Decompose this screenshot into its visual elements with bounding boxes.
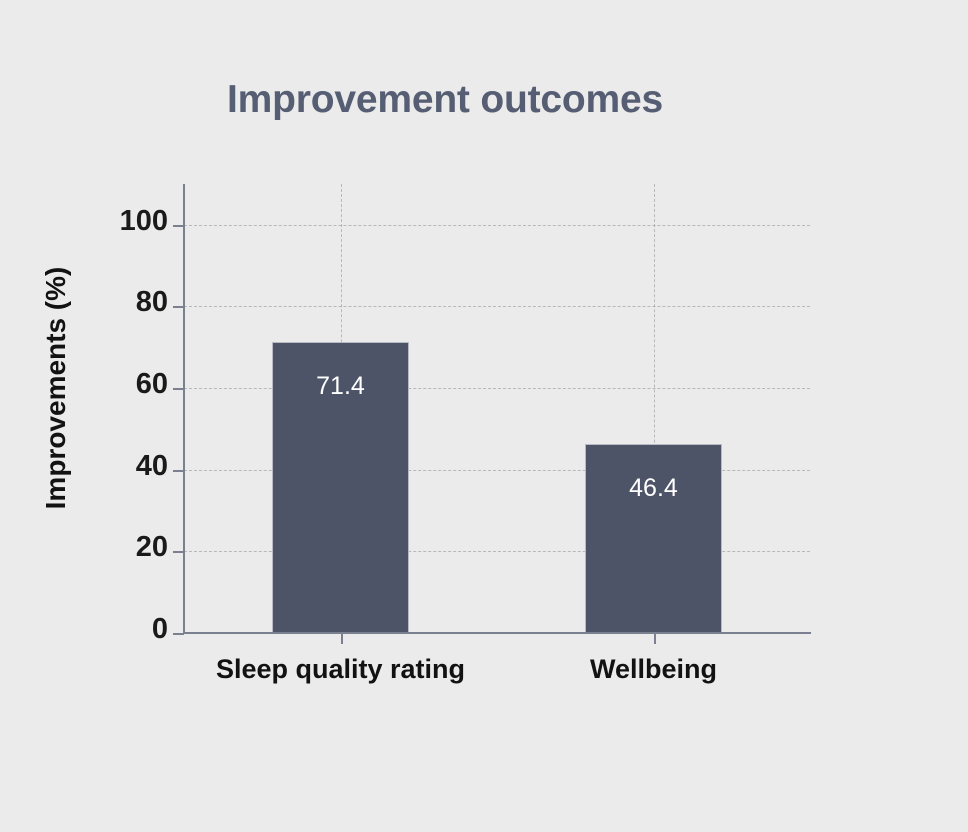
y-tick-mark (173, 470, 184, 472)
y-tick-mark (173, 551, 184, 553)
x-axis-spine (184, 632, 811, 634)
y-tick-label: 80 (48, 286, 168, 319)
x-tick-label-1: Wellbeing (454, 654, 854, 685)
plot-area: 71.446.4 (184, 184, 810, 633)
gridline-horizontal (184, 225, 810, 226)
y-tick-mark (173, 225, 184, 227)
y-tick-label: 20 (48, 531, 168, 564)
y-tick-mark (173, 306, 184, 308)
y-tick-label: 0 (48, 613, 168, 646)
y-tick-mark (173, 633, 184, 635)
y-tick-label: 100 (48, 205, 168, 238)
chart-title: Improvement outcomes (0, 78, 890, 122)
chart-figure: Improvement outcomes Improvements (%) 71… (0, 0, 968, 832)
bar-value-label-0: 71.4 (272, 372, 409, 401)
gridline-horizontal (184, 306, 810, 307)
bar-1[interactable] (585, 444, 722, 633)
y-tick-label: 40 (48, 450, 168, 483)
bar-value-label-1: 46.4 (585, 474, 722, 503)
y-tick-label: 60 (48, 368, 168, 401)
y-axis-spine (183, 184, 185, 634)
x-tick-mark (341, 633, 343, 644)
x-tick-mark (654, 633, 656, 644)
y-tick-mark (173, 388, 184, 390)
